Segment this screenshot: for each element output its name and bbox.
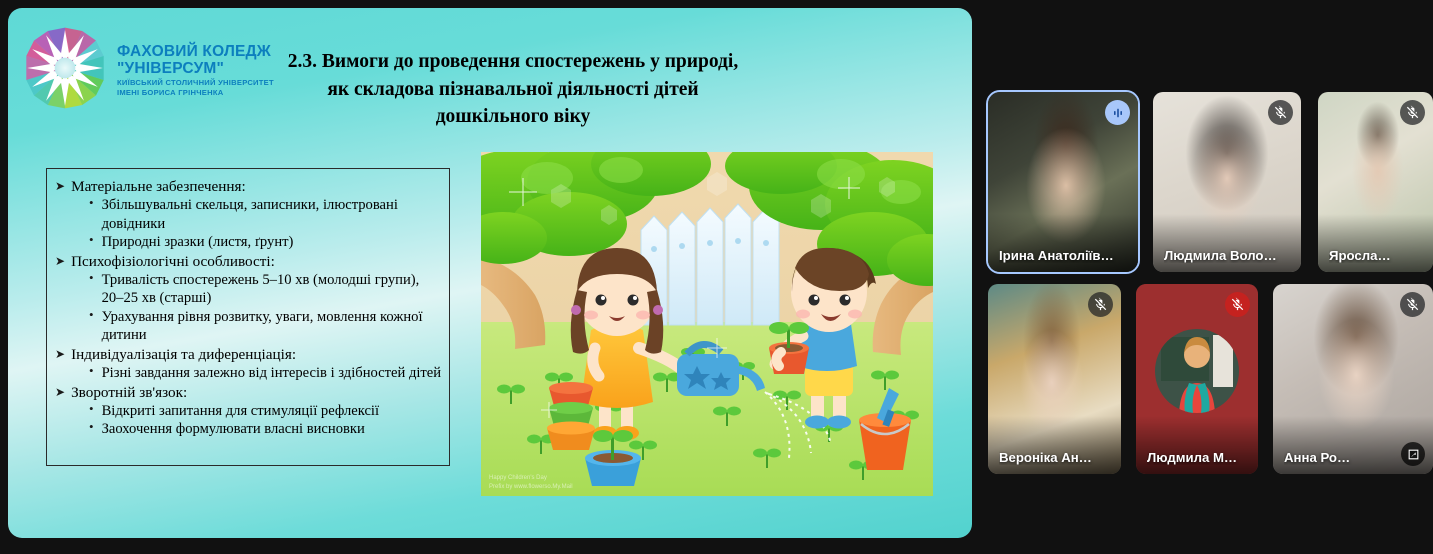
outline-item-text: Урахування рівня розвитку, уваги, мовлен… [102,308,443,345]
outline-item-text: Природні зразки (листя, ґрунт) [102,233,294,252]
outline-item-text: Збільшувальні скельця, записники, ілюстр… [102,196,443,233]
presentation-slide[interactable]: ФАХОВИЙ КОЛЕДЖ "УНІВЕРСУМ" КИЇВСЬКИЙ СТО… [8,8,972,538]
participant-tile[interactable]: Вероніка Ан… [988,284,1121,474]
title-line-1: 2.3. Вимоги до проведення спостережень у… [223,48,803,76]
outline-item-text: Відкриті запитання для стимуляції рефлек… [102,402,379,421]
outline-item-level1: ➤Матеріальне забезпечення: [51,177,443,196]
outline-item-level2: •Природні зразки (листя, ґрунт) [51,233,443,252]
arrow-bullet-icon: ➤ [55,383,65,401]
name-gradient-overlay [1153,214,1301,272]
participant-tile[interactable]: Анна Ро… [1273,284,1433,474]
mic-off-icon [1400,100,1425,125]
participant-tile[interactable]: Людмила Воло… [1153,92,1301,272]
participant-tile[interactable]: Ярослa… [1318,92,1433,272]
arrow-bullet-icon: ➤ [55,177,65,195]
outline-item-level1: ➤Психофізіологічні особливості: [51,252,443,271]
dot-bullet-icon: • [89,402,94,417]
name-gradient-overlay [988,416,1121,474]
dot-bullet-icon: • [89,308,94,323]
expand-pin-icon[interactable] [1401,442,1425,466]
universum-emblem-icon [22,25,108,111]
participant-name: Людмила Воло… [1164,248,1293,263]
name-gradient-overlay [1318,214,1433,272]
outline-item-level2: •Різні завдання залежно від інтересів і … [51,364,443,383]
name-gradient-overlay [1136,416,1258,474]
slide-title: 2.3. Вимоги до проведення спостережень у… [223,48,803,131]
dot-bullet-icon: • [89,233,94,248]
participant-name: Вероніка Ан… [999,450,1113,465]
avatar [1155,329,1239,413]
dot-bullet-icon: • [89,271,94,286]
participant-name: Ірина Анатоліїв… [999,248,1130,263]
arrow-bullet-icon: ➤ [55,345,65,363]
outline-item-level2: •Заохочення формулювати власні висновки [51,420,443,439]
mic-off-icon [1225,292,1250,317]
outline-item-text: Різні завдання залежно від інтересів і з… [102,364,442,383]
mic-off-icon [1400,292,1425,317]
participant-name: Ярослa… [1329,248,1425,263]
participant-tile[interactable]: Ірина Анатоліїв… [988,92,1138,272]
outline-item-text: Індивідуалізація та диференціація: [71,345,296,364]
outline-item-text: Зворотній зв'язок: [71,383,187,402]
meeting-screen: ФАХОВИЙ КОЛЕДЖ "УНІВЕРСУМ" КИЇВСЬКИЙ СТО… [0,0,1433,554]
name-gradient-overlay [988,214,1138,272]
title-line-2: як складова пізнавальної діяльності діте… [223,76,803,104]
arrow-bullet-icon: ➤ [55,252,65,270]
dot-bullet-icon: • [89,364,94,379]
outline-item-level1: ➤Зворотній зв'язок: [51,383,443,402]
outline-item-level2: •Тривалість спостережень 5–10 хв (молодш… [51,271,443,308]
participant-name: Людмила М… [1147,450,1250,465]
slide-textbox: ➤Матеріальне забезпечення:•Збільшувальні… [46,168,450,466]
outline-item-text: Матеріальне забезпечення: [71,177,246,196]
illustration-watermark: Happy Children's Day Prefix by www.flowe… [489,474,573,492]
mic-off-icon [1268,100,1293,125]
outline-item-text: Психофізіологічні особливості: [71,252,275,271]
participant-tile[interactable]: Людмила М… [1136,284,1258,474]
outline-item-text: Тривалість спостережень 5–10 хв (молодші… [102,271,443,308]
title-line-3: дошкільного віку [223,103,803,131]
outline-list: ➤Матеріальне забезпечення:•Збільшувальні… [51,177,443,439]
mic-off-icon [1088,292,1113,317]
outline-item-level1: ➤Індивідуалізація та диференціація: [51,345,443,364]
participant-grid: Ірина Анатоліїв…Людмила Воло…Ярослa…Веро… [988,92,1433,477]
outline-item-level2: •Урахування рівня розвитку, уваги, мовле… [51,308,443,345]
outline-item-level2: •Збільшувальні скельця, записники, ілюст… [51,196,443,233]
audio-level-icon [1105,100,1130,125]
outline-item-level2: •Відкриті запитання для стимуляції рефле… [51,402,443,421]
dot-bullet-icon: • [89,420,94,435]
slide-illustration: Happy Children's Day Prefix by www.flowe… [481,152,933,496]
dot-bullet-icon: • [89,196,94,211]
outline-item-text: Заохочення формулювати власні висновки [102,420,365,439]
